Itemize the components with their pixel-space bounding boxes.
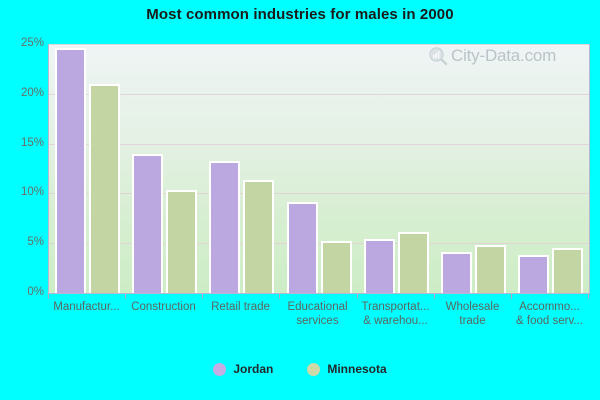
bar-minnesota-5[interactable] (475, 245, 506, 293)
bar-minnesota-1[interactable] (166, 190, 197, 293)
magnifier-bar-chart-icon (428, 46, 448, 66)
gridline (49, 44, 589, 45)
x-label-line: trade (434, 314, 511, 328)
bar-minnesota-0[interactable] (89, 84, 120, 293)
x-axis-label-1: Construction (125, 300, 202, 314)
bar-jordan-5[interactable] (441, 252, 472, 293)
y-tick-label: 20% (0, 88, 44, 100)
x-axis-label-6: Accommo...& food serv... (511, 300, 588, 328)
bar-minnesota-2[interactable] (243, 180, 274, 293)
x-tick (202, 294, 203, 299)
x-label-line: services (279, 314, 356, 328)
bar-minnesota-6[interactable] (552, 248, 583, 293)
plot-area (48, 44, 590, 294)
x-label-line: Retail trade (202, 300, 279, 314)
x-label-line: Educational (279, 300, 356, 314)
x-tick (588, 294, 589, 299)
y-tick-label: 25% (0, 38, 44, 50)
gridline (49, 144, 589, 145)
x-label-line: Manufactur... (48, 300, 125, 314)
x-tick (511, 294, 512, 299)
legend-swatch-icon (307, 363, 320, 376)
y-tick-label: 0% (0, 287, 44, 299)
legend-label: Jordan (233, 362, 273, 376)
x-axis: Manufactur...ConstructionRetail tradeEdu… (48, 294, 588, 346)
bar-jordan-1[interactable] (132, 154, 163, 293)
y-tick-label: 5% (0, 237, 44, 249)
x-label-line: Wholesale (434, 300, 511, 314)
x-label-line: Transportat... (357, 300, 434, 314)
x-tick (434, 294, 435, 299)
y-tick-label: 10% (0, 187, 44, 199)
legend-item-jordan[interactable]: Jordan (213, 362, 273, 376)
chart-legend: JordanMinnesota (0, 362, 600, 376)
x-tick (357, 294, 358, 299)
x-tick (279, 294, 280, 299)
x-label-line: & warehou... (357, 314, 434, 328)
y-tick-label: 15% (0, 138, 44, 150)
x-tick (48, 294, 49, 299)
legend-swatch-icon (213, 363, 226, 376)
bar-jordan-6[interactable] (518, 255, 549, 293)
gridline (49, 193, 589, 194)
bar-jordan-0[interactable] (55, 48, 86, 293)
bar-chart: Most common industries for males in 2000… (0, 0, 600, 400)
bar-minnesota-3[interactable] (321, 241, 352, 293)
x-axis-label-4: Transportat...& warehou... (357, 300, 434, 328)
chart-title: Most common industries for males in 2000 (0, 6, 600, 23)
legend-item-minnesota[interactable]: Minnesota (307, 362, 386, 376)
gridline (49, 94, 589, 95)
bar-minnesota-4[interactable] (398, 232, 429, 293)
x-axis-label-0: Manufactur... (48, 300, 125, 314)
bar-jordan-3[interactable] (287, 202, 318, 293)
gridline (49, 243, 589, 244)
bar-jordan-4[interactable] (364, 239, 395, 293)
x-label-line: & food serv... (511, 314, 588, 328)
x-label-line: Construction (125, 300, 202, 314)
x-axis-label-3: Educationalservices (279, 300, 356, 328)
watermark-text: City-Data.com (451, 46, 556, 66)
x-tick (125, 294, 126, 299)
legend-label: Minnesota (327, 362, 386, 376)
x-axis-label-5: Wholesaletrade (434, 300, 511, 328)
x-label-line: Accommo... (511, 300, 588, 314)
x-axis-label-2: Retail trade (202, 300, 279, 314)
bar-jordan-2[interactable] (209, 161, 240, 293)
city-data-watermark: City-Data.com (428, 46, 556, 66)
